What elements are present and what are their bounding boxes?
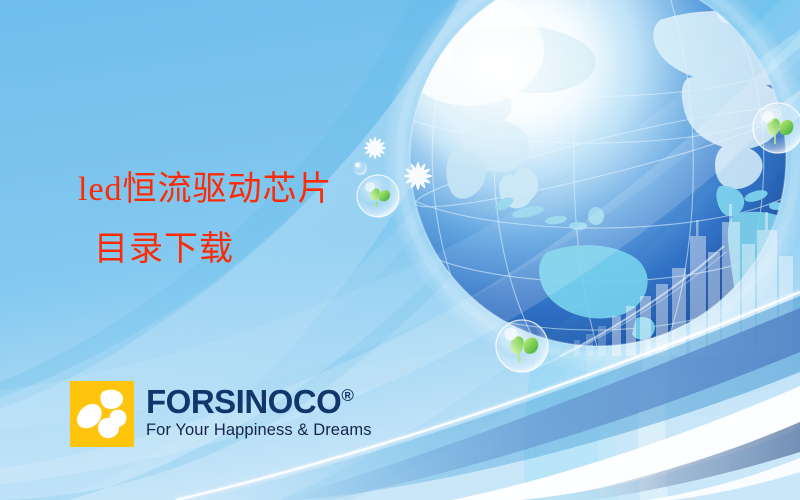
- promo-banner: led恒流驱动芯片 目录下载 FORSINOCO®: [0, 0, 800, 500]
- starburst-upper: [364, 137, 386, 159]
- brand-name-text: FORSINOCO: [146, 383, 341, 420]
- bubble-leaf-top-right: [753, 103, 800, 153]
- four-petal-pinwheel-icon: [70, 381, 134, 447]
- brand-tagline: For Your Happiness & Dreams: [146, 420, 372, 440]
- company-logo: FORSINOCO® For Your Happiness & Dreams: [70, 381, 372, 447]
- headline-text: led恒流驱动芯片 目录下载: [78, 160, 458, 280]
- bubble-leaf-lower: [496, 320, 548, 372]
- registered-trademark-symbol: ®: [341, 386, 353, 405]
- brand-name: FORSINOCO®: [146, 385, 372, 419]
- headline-line-2: 目录下载: [78, 220, 458, 280]
- headline-line-1: led恒流驱动芯片: [78, 160, 458, 220]
- logo-wordmark: FORSINOCO® For Your Happiness & Dreams: [146, 381, 372, 440]
